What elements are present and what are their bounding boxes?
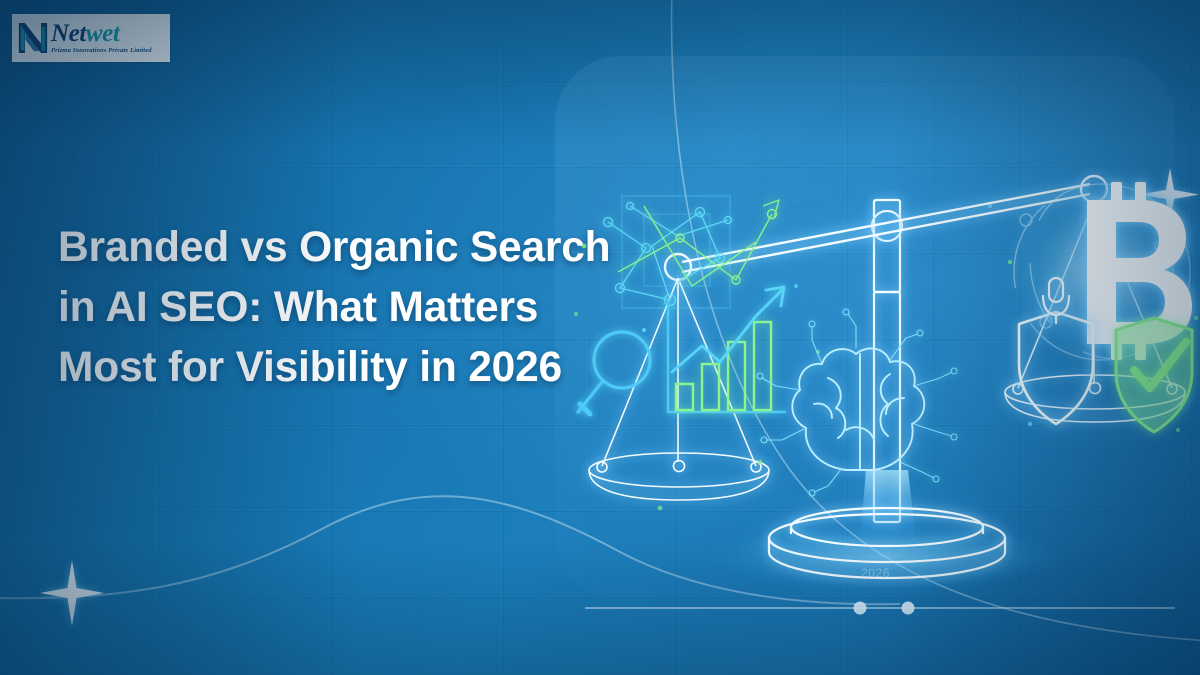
timeline-dot-left bbox=[854, 602, 867, 615]
network-nodes-icon bbox=[604, 196, 732, 308]
brand-tagline: Prizma Innovations Private Limited bbox=[51, 47, 152, 55]
particles-left bbox=[574, 244, 820, 511]
brand-name-part2: wet bbox=[86, 20, 120, 47]
brand-name-part1: Net bbox=[51, 20, 86, 47]
ai-brain-circuit-icon bbox=[792, 348, 924, 470]
bar-chart-growth-icon bbox=[668, 287, 786, 412]
hologram-beam bbox=[860, 470, 916, 540]
brand-logo-text: Netwet Prizma Innovations Private Limite… bbox=[51, 21, 152, 55]
timeline-dot-right bbox=[902, 602, 915, 615]
ai-brain-base bbox=[707, 309, 1067, 590]
timeline-year-label: 2026 bbox=[861, 566, 890, 580]
brain-circuit-traces bbox=[757, 309, 957, 496]
stylized-n-monogram-icon bbox=[17, 21, 49, 55]
brand-logo[interactable]: Netwet Prizma Innovations Private Limite… bbox=[12, 14, 170, 62]
shield-check-icon bbox=[1116, 318, 1192, 432]
page-title: Branded vs Organic Search in AI SEO: Wha… bbox=[58, 218, 618, 398]
hero-illustration: 2026 bbox=[560, 0, 1200, 675]
hero-banner: Netwet Prizma Innovations Private Limite… bbox=[0, 0, 1200, 675]
timeline bbox=[585, 602, 1175, 615]
sparkle-icon-bottom-left bbox=[40, 560, 104, 626]
brand-name: Netwet bbox=[51, 21, 152, 46]
